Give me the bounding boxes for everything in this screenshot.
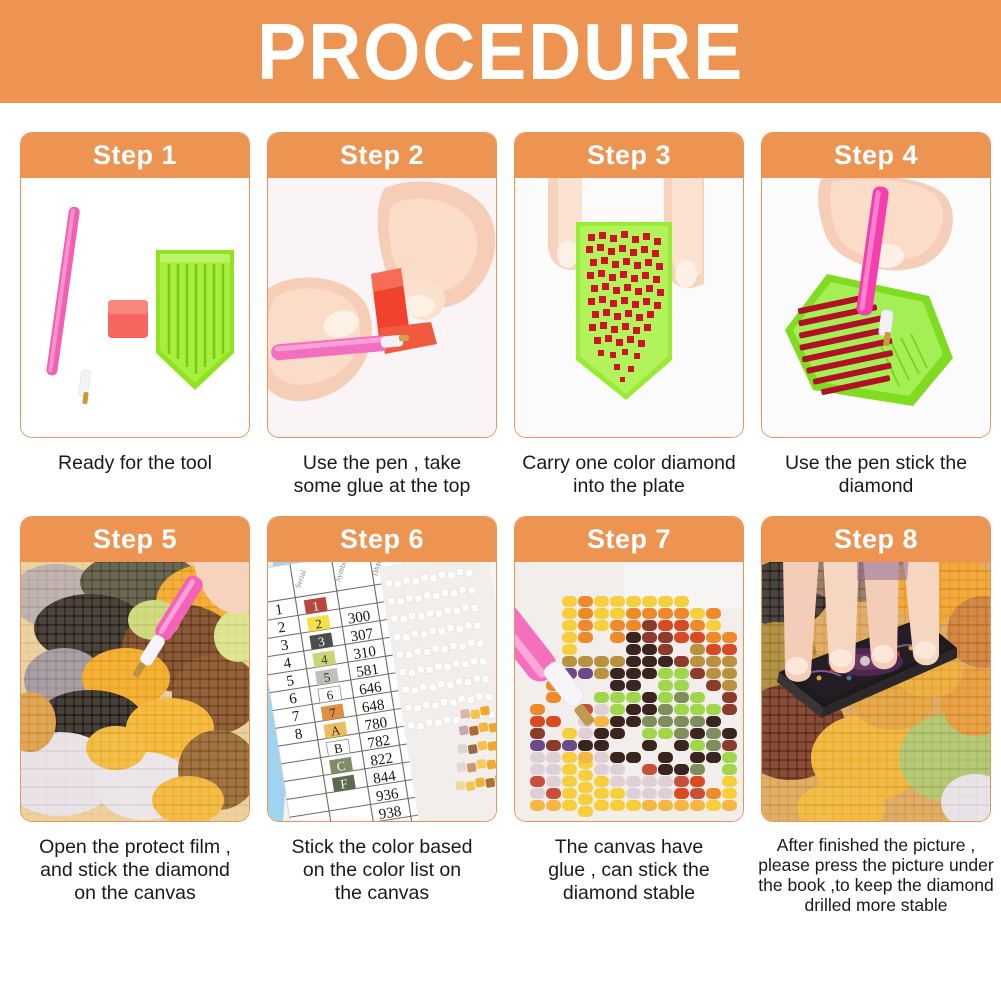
step-card-3[interactable]: Step 3 — [514, 132, 744, 438]
step-photo-7 — [515, 562, 743, 821]
step-photo-5 — [21, 562, 249, 821]
step-header-6: Step 6 — [268, 517, 496, 562]
step-header-7: Step 7 — [515, 517, 743, 562]
step-card-6[interactable]: Step 6 — [267, 516, 497, 822]
step-card-2[interactable]: Step 2 — [267, 132, 497, 438]
step-photo-6: Symbol DMC Serial — [268, 562, 496, 821]
step-photo-2 — [268, 178, 496, 437]
step-header-1: Step 1 — [21, 133, 249, 178]
step-caption-6: Stick the color based on the color list … — [263, 836, 501, 905]
step-caption-8: After finished the picture , please pres… — [753, 836, 999, 916]
step-cell-3: Step 3 — [514, 132, 744, 498]
step-caption-4: Use the pen stick the diamond — [757, 452, 995, 498]
step-card-1[interactable]: Step 1 — [20, 132, 250, 438]
step-card-7[interactable]: Step 7 — [514, 516, 744, 822]
step-caption-3: Carry one color diamond into the plate — [510, 452, 748, 498]
step-cell-2: Step 2 — [267, 132, 497, 498]
red-glue-square — [108, 300, 148, 338]
step-cell-4: Step 4 — [761, 132, 991, 498]
step-card-8[interactable]: Step 8 — [761, 516, 991, 822]
svg-text:938: 938 — [378, 804, 403, 821]
step-caption-5: Open the protect film , and stick the di… — [16, 836, 254, 905]
step-cell-1: Step 1 — [20, 132, 250, 498]
page-header-banner: PROCEDURE — [0, 0, 1001, 103]
step-caption-7: The canvas have glue , can stick the dia… — [510, 836, 748, 905]
step-cell-6: Step 6 — [267, 516, 497, 916]
step-card-4[interactable]: Step 4 — [761, 132, 991, 438]
step-photo-1 — [21, 178, 249, 437]
step-caption-1: Ready for the tool — [16, 452, 254, 475]
step-photo-4 — [762, 178, 990, 437]
step-photo-3 — [515, 178, 743, 437]
step-cell-7: Step 7 — [514, 516, 744, 916]
step-cell-5: Step 5 — [20, 516, 250, 916]
step-card-5[interactable]: Step 5 — [20, 516, 250, 822]
step-cell-8: Step 8 — [761, 516, 991, 916]
step-header-5: Step 5 — [21, 517, 249, 562]
step-photo-8 — [762, 562, 990, 821]
page-title: PROCEDURE — [257, 12, 744, 92]
steps-grid: Step 1 — [0, 103, 1001, 916]
step-header-8: Step 8 — [762, 517, 990, 562]
step-header-4: Step 4 — [762, 133, 990, 178]
step-header-2: Step 2 — [268, 133, 496, 178]
step-caption-2: Use the pen , take some glue at the top — [263, 452, 501, 498]
step-header-3: Step 3 — [515, 133, 743, 178]
